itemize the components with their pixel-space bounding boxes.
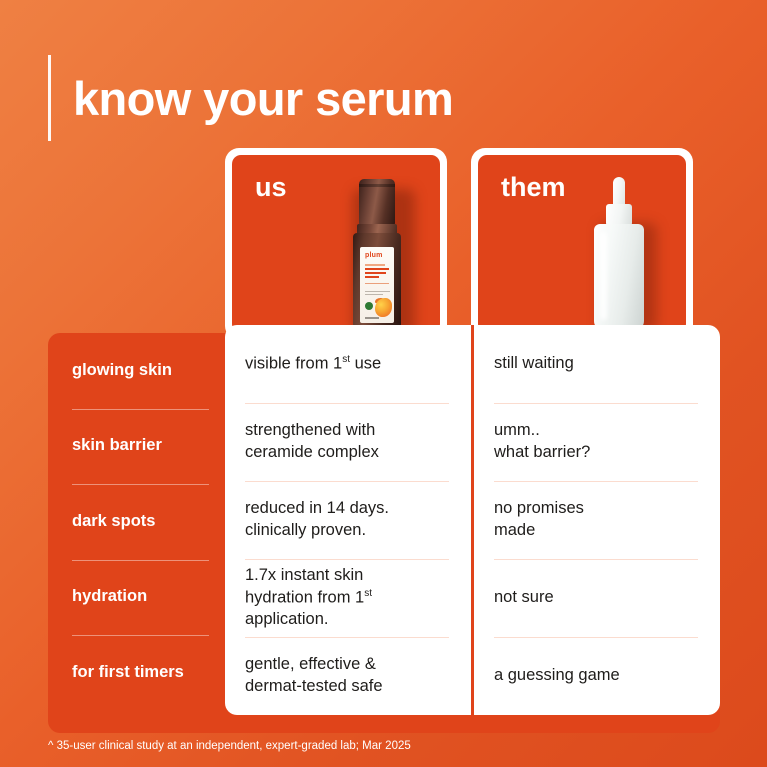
cell-us-glowing-skin: visible from 1st use [245,353,397,375]
table-row: not sure [494,559,720,637]
cell-them-glowing-skin: still waiting [494,353,590,375]
label-line [365,294,383,295]
bottle-gloss [600,232,607,320]
table-row: visible from 1st use [245,325,471,403]
table-row: skin barrier [72,409,201,485]
table-row: dark spots [72,484,201,560]
table-row: glowing skin [72,333,201,409]
title-accent-bar [48,55,51,141]
row-label: dark spots [72,512,155,532]
page-title: know your serum [73,75,453,122]
dropper-neck [606,204,632,226]
table-row: gentle, effective &dermat-tested safe [245,637,471,715]
table-row: reduced in 14 days.clinically proven. [245,481,471,559]
table-row: a guessing game [494,637,720,715]
footnote-disclaimer: ^ 35-user clinical study at an independe… [48,741,411,753]
label-line [365,264,385,266]
cell-them-dark-spots: no promisesmade [494,498,600,542]
row-label: hydration [72,587,147,607]
cell-them-first-timers: a guessing game [494,665,636,687]
dropper-tip [613,177,625,207]
table-row: hydration [72,560,201,636]
cell-us-first-timers: gentle, effective &dermat-tested safe [245,654,399,698]
product-card-them-heading: them [501,174,566,201]
cell-us-skin-barrier: strengthened withceramide complex [245,420,395,464]
eco-badge-icon [365,302,373,310]
white-dropper-bottle-icon [586,177,660,332]
cell-them-skin-barrier: umm..what barrier? [494,420,606,464]
comparison-values-card: visible from 1st use strengthened withce… [225,325,720,715]
table-row: for first timers [72,635,201,711]
label-volume-text [365,317,379,319]
comparison-labels-column: glowing skin skin barrier dark spots hyd… [48,333,225,733]
label-line [365,268,389,270]
product-card-us-heading: us [255,174,287,201]
comparison-column-us: visible from 1st use strengthened withce… [225,325,471,715]
comparison-table: glowing skin skin barrier dark spots hyd… [48,333,720,733]
table-row: still waiting [494,325,720,403]
row-label: for first timers [72,663,184,683]
row-label: skin barrier [72,436,162,456]
table-row: 1.7x instant skinhydration from 1stappli… [245,559,471,637]
table-row: no promisesmade [494,481,720,559]
product-card-us-inner: us plum [232,155,440,333]
comparison-column-them: still waiting umm..what barrier? no prom… [471,325,720,715]
product-card-us: us plum [225,148,447,340]
bottle-body: plum [353,233,401,331]
label-line [365,283,389,284]
table-row: umm..what barrier? [494,403,720,481]
cell-us-hydration: 1.7x instant skinhydration from 1stappli… [245,565,388,631]
label-line [365,291,390,292]
product-card-them: them [471,148,693,340]
brand-text: plum [365,252,383,259]
title-block: know your serum [48,55,453,141]
bottle-label: plum [360,247,394,323]
bottle-cap-ridge [359,184,395,187]
fruit-icon [375,298,392,317]
plum-serum-bottle-icon: plum [344,179,410,331]
label-line [365,272,386,274]
table-row: strengthened withceramide complex [245,403,471,481]
product-card-them-inner: them [478,155,686,333]
cell-us-dark-spots: reduced in 14 days.clinically proven. [245,498,405,542]
label-line [365,276,379,278]
row-label: glowing skin [72,361,172,381]
cell-them-hydration: not sure [494,587,570,609]
